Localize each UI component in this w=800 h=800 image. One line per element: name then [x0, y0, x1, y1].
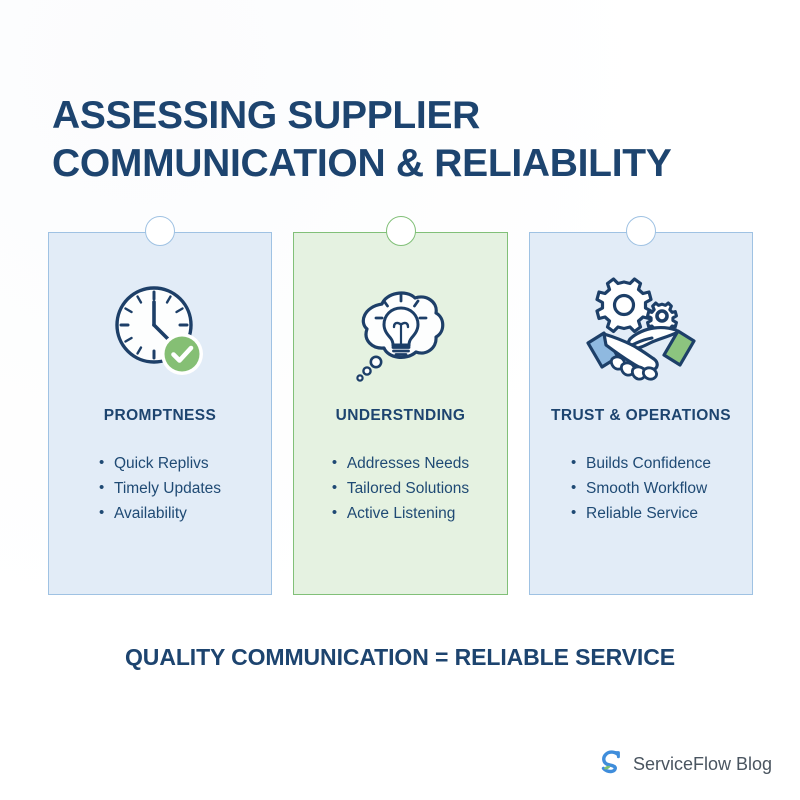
card-bullet-list: Builds Confidence Smooth Workflow Reliab…	[571, 451, 711, 526]
card-heading: TRUST & OPERATIONS	[551, 407, 731, 425]
clock-check-icon	[108, 271, 212, 391]
list-item: Active Listening	[332, 501, 469, 526]
card-top-dot	[626, 216, 656, 246]
list-item: Timely Updates	[99, 476, 221, 501]
list-item: Quick Replivs	[99, 451, 221, 476]
list-item: Availability	[99, 501, 221, 526]
list-item: Addresses Needs	[332, 451, 469, 476]
card-top-dot	[386, 216, 416, 246]
list-item: Smooth Workflow	[571, 476, 711, 501]
cards-row: PROMPTNESS Quick Replivs Timely Updates …	[48, 232, 753, 595]
list-item: Tailored Solutions	[332, 476, 469, 501]
title-line-2: COMMUNICATION & RELIABILITY	[52, 140, 752, 188]
card-bullet-list: Addresses Needs Tailored Solutions Activ…	[332, 451, 469, 526]
infographic-canvas: ASSESSING SUPPLIER COMMUNICATION & RELIA…	[0, 0, 800, 800]
card-trust-operations[interactable]: TRUST & OPERATIONS Builds Confidence Smo…	[529, 232, 753, 595]
page-title: ASSESSING SUPPLIER COMMUNICATION & RELIA…	[52, 92, 752, 188]
brand-name: ServiceFlow Blog	[633, 754, 772, 775]
list-item: Reliable Service	[571, 501, 711, 526]
thought-bubble-lightbulb-icon	[348, 271, 454, 391]
list-item: Builds Confidence	[571, 451, 711, 476]
card-heading: UNDERSTNDING	[336, 407, 466, 425]
card-promptness[interactable]: PROMPTNESS Quick Replivs Timely Updates …	[48, 232, 272, 595]
title-line-1: ASSESSING SUPPLIER	[52, 92, 752, 140]
card-bullet-list: Quick Replivs Timely Updates Availabilit…	[99, 451, 221, 526]
card-heading: PROMPTNESS	[104, 407, 217, 425]
tagline: QUALITY COMMUNICATION = RELIABLE SERVICE	[0, 644, 800, 671]
card-understanding[interactable]: UNDERSTNDING Addresses Needs Tailored So…	[293, 232, 508, 595]
brand-footer[interactable]: ServiceFlow Blog	[597, 748, 772, 780]
card-top-dot	[145, 216, 175, 246]
handshake-gears-icon	[582, 271, 700, 391]
serviceflow-s-logo-icon	[597, 748, 624, 780]
